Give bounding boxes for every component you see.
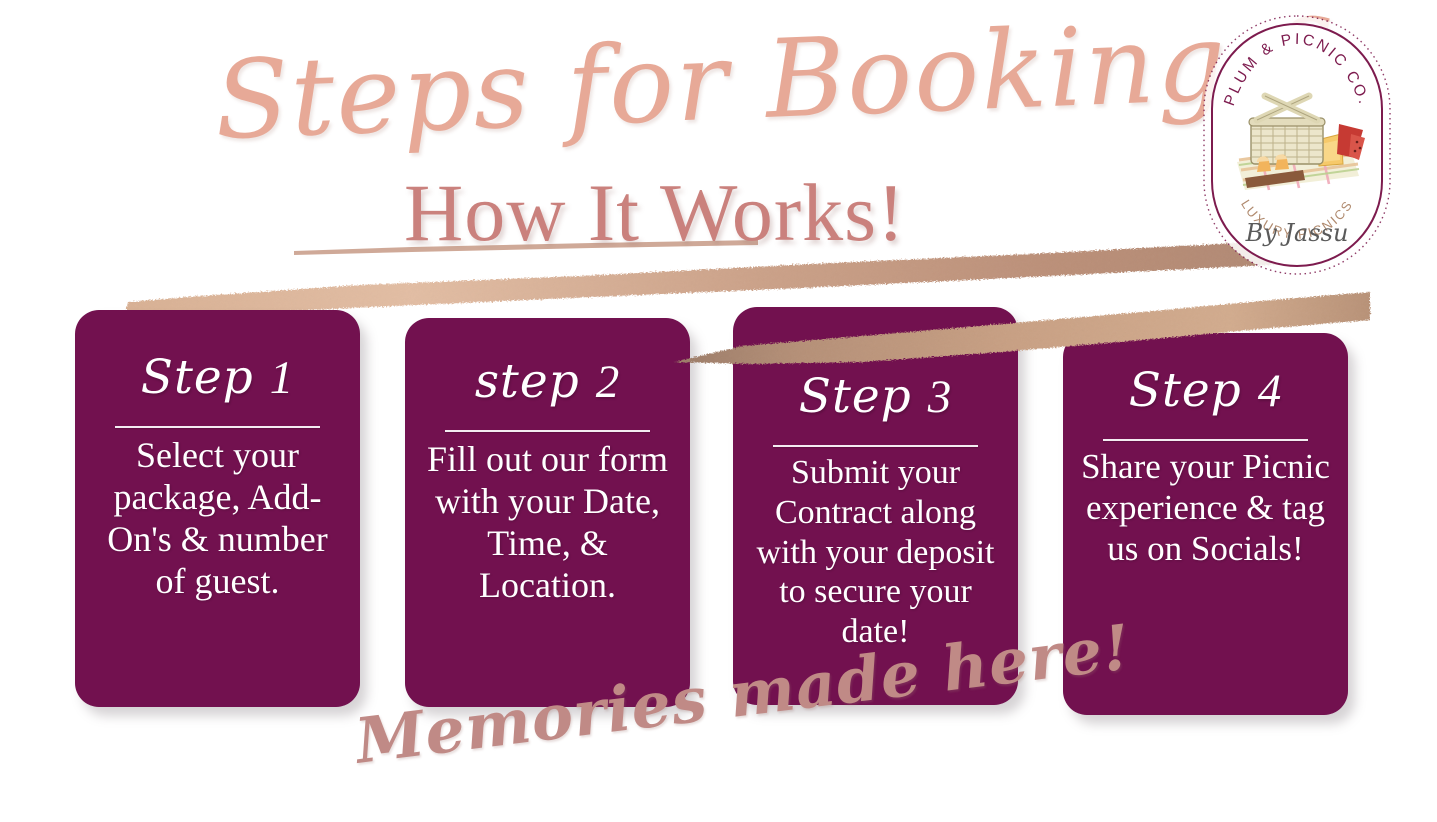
step-card-2-divider — [445, 430, 650, 432]
step-card-2-heading: step 2 — [475, 358, 620, 406]
step-card-4-divider — [1103, 439, 1308, 441]
step-card-4-heading: Step 4 — [1129, 367, 1282, 415]
logo-script-text: By Jassu — [1245, 219, 1349, 247]
step-card-4-body: Share your Picnic experience & tag us on… — [1075, 447, 1336, 570]
brand-logo[interactable]: PLUM & PICNIC CO. — [1199, 4, 1395, 282]
step-card-1-body: Select your package, Add-On's & number o… — [87, 434, 348, 602]
step-card-2-body: Fill out our form with your Date, Time, … — [417, 438, 678, 606]
step-card-1[interactable]: Step 1 Select your package, Add-On's & n… — [75, 310, 360, 707]
step-card-1-heading: Step 1 — [141, 354, 294, 402]
step-card-4-heading-word: Step — [1129, 363, 1242, 418]
step-card-4-heading-number: 4 — [1258, 365, 1283, 417]
brush-stroke-diagonal — [672, 290, 1372, 368]
step-card-3-divider — [773, 445, 978, 447]
step-card-2-heading-number: 2 — [596, 356, 621, 408]
step-card-1-divider — [115, 426, 320, 428]
step-card-1-heading-word: Step — [141, 350, 254, 405]
poster-canvas: Step 1 Select your package, Add-On's & n… — [0, 0, 1437, 822]
step-card-3-heading-number: 3 — [928, 371, 953, 423]
page-title-serif: How It Works! — [404, 172, 905, 254]
step-card-3-heading: Step 3 — [799, 373, 952, 421]
step-card-2[interactable]: step 2 Fill out our form with your Date,… — [405, 318, 690, 707]
step-card-3-heading-word: Step — [799, 369, 912, 424]
step-card-3-body: Submit your Contract along with your dep… — [745, 453, 1006, 652]
step-card-2-heading-word: step — [475, 354, 580, 409]
step-card-1-heading-number: 1 — [270, 352, 295, 404]
